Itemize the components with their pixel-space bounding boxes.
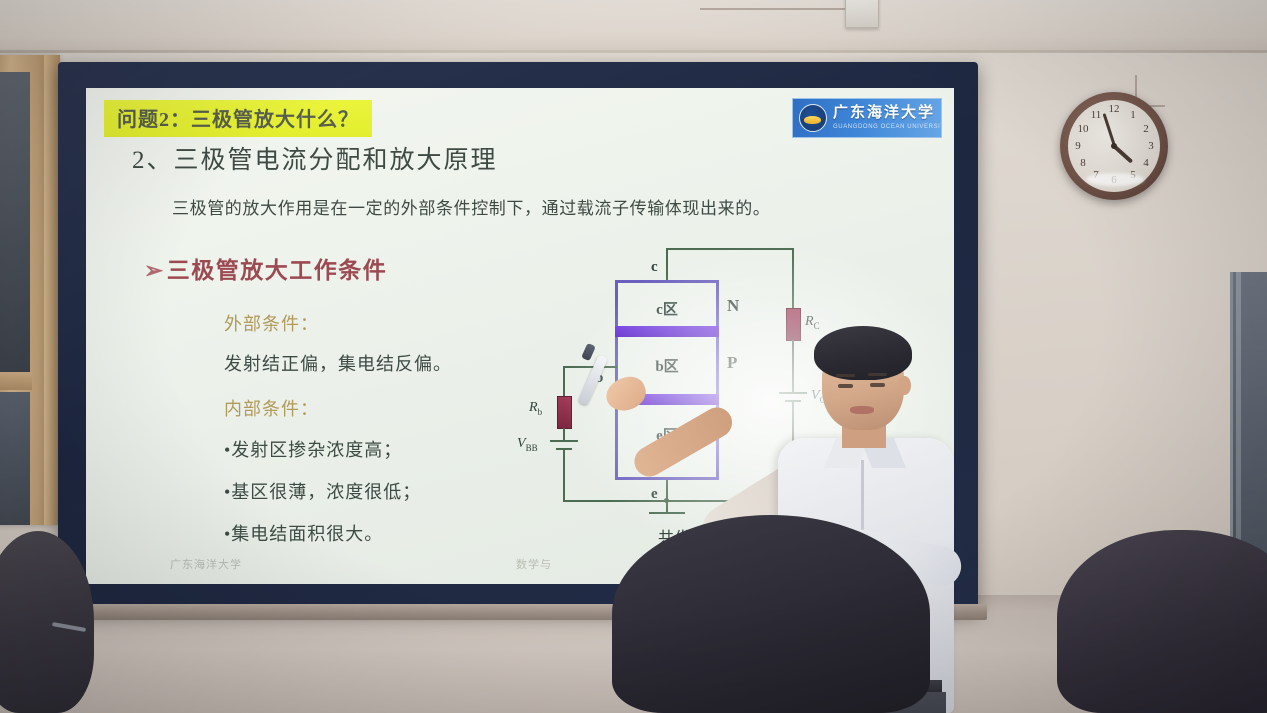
clock-number: 11 <box>1089 110 1103 121</box>
resistor-rc-label: RC <box>805 314 820 331</box>
vbb-subscript: BB <box>526 443 538 453</box>
logo-name-en: GUANGDONG OCEAN UNIVERSITY <box>833 124 942 130</box>
instructor-ear <box>898 376 911 395</box>
clock-number: 10 <box>1076 124 1090 135</box>
resistor-rb <box>557 396 572 429</box>
window-mullion <box>0 372 32 390</box>
student-silhouette-center <box>612 513 932 713</box>
wall-clock: 12 1 2 3 4 5 6 7 8 9 10 11 <box>1060 92 1168 200</box>
clock-minute-hand <box>1102 113 1115 146</box>
rb-symbol: R <box>529 400 538 415</box>
clock-number: 2 <box>1139 124 1153 135</box>
zone-base: b区 <box>615 355 719 376</box>
clock-glass-reflection <box>1086 173 1144 186</box>
student-head <box>612 515 930 713</box>
wire-rb-lower <box>563 428 565 440</box>
rc-symbol: R <box>805 314 814 329</box>
internal-condition-label: 内部条件： <box>224 395 319 421</box>
clock-number: 8 <box>1076 158 1090 169</box>
slide-title: 问题2：三极管放大什么？ <box>104 100 372 137</box>
clock-number: 1 <box>1126 110 1140 121</box>
window-glass-upper <box>0 72 30 372</box>
window-glass-lower <box>0 392 30 525</box>
slide-section-heading: 2、三极管电流分配和放大原理 <box>132 140 498 176</box>
clock-face: 12 1 2 3 4 5 6 7 8 9 10 11 <box>1068 100 1160 192</box>
vbb-label: VBB <box>517 436 538 453</box>
instructor-hair <box>814 326 912 380</box>
student-silhouette-left <box>0 523 102 713</box>
slide-subheading: ➢三极管放大工作条件 <box>144 251 387 285</box>
ceiling-wire <box>700 8 850 10</box>
wire-collector-lead <box>666 248 668 282</box>
ceiling <box>0 0 1267 52</box>
clock-number: 3 <box>1144 141 1158 152</box>
clock-center-pin <box>1111 143 1117 149</box>
zone-collector: c区 <box>615 298 719 319</box>
resistor-rb-label: Rb <box>529 400 542 417</box>
collector-base-junction <box>615 326 719 337</box>
wire-emitter-lead <box>666 480 668 500</box>
footer-center: 数学与 <box>516 556 552 572</box>
internal-bullet-3: •集电结面积很大。 <box>224 520 383 546</box>
wire-rb-upper <box>563 366 565 396</box>
wire-vbb-to-ground <box>563 448 565 500</box>
slide-subheading-text: 三极管放大工作条件 <box>167 258 388 283</box>
vbb-plate-long <box>550 440 578 442</box>
internal-bullet-1: •发射区掺杂浓度高； <box>224 436 402 462</box>
arrow-bullet-icon: ➢ <box>144 258 165 283</box>
student-silhouette-right <box>1057 528 1267 713</box>
wire-ground-stem <box>666 500 668 512</box>
logo-text: 广东海洋大学 GUANGDONG OCEAN UNIVERSITY <box>833 106 942 130</box>
student-head <box>1057 530 1267 713</box>
logo-emblem-icon <box>799 104 827 132</box>
terminal-c: c <box>651 259 658 276</box>
rb-subscript: b <box>538 407 543 417</box>
vbb-symbol: V <box>517 436 526 451</box>
external-condition-text: 发射结正偏，集电结反偏。 <box>224 350 452 376</box>
wire-top-rail <box>666 248 794 250</box>
instructor-brow-right <box>868 373 887 376</box>
ceiling-wall-joint <box>0 50 1267 53</box>
wire-base-lead <box>563 366 617 368</box>
clock-number: 9 <box>1071 141 1085 152</box>
internal-bullet-2: •基区很薄，浓度很低； <box>224 478 421 504</box>
footer-left: 广东海洋大学 <box>170 556 242 572</box>
instructor-brow-left <box>836 374 855 377</box>
instructor-eye-right <box>870 383 885 387</box>
ceiling-fixture <box>845 0 879 28</box>
student-head <box>0 531 94 713</box>
instructor-mouth <box>850 406 874 414</box>
logo-name-cn: 广东海洋大学 <box>833 106 942 121</box>
slide-paragraph: 三极管的放大作用是在一定的外部条件控制下，通过载流子传输体现出来的。 <box>172 194 770 219</box>
external-condition-label: 外部条件： <box>224 310 319 336</box>
doping-label-n: N <box>727 296 739 316</box>
instructor-eye-left <box>838 384 853 388</box>
wire-rc-upper <box>792 248 794 308</box>
university-logo: 广东海洋大学 GUANGDONG OCEAN UNIVERSITY <box>792 98 942 138</box>
clock-number: 12 <box>1107 104 1121 115</box>
classroom-scene: 12 1 2 3 4 5 6 7 8 9 10 11 问题2：三极管放大什么？ <box>0 0 1267 713</box>
clock-number: 4 <box>1139 158 1153 169</box>
